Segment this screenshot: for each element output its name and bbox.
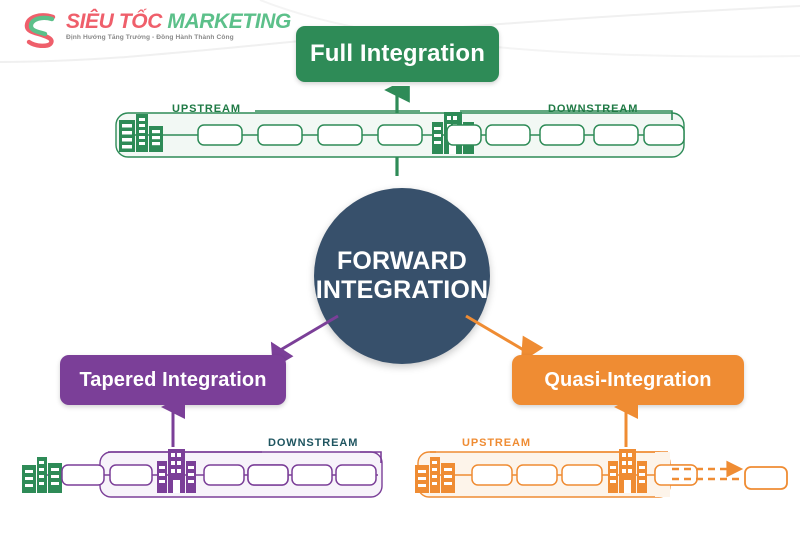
upstream-label-quasi: UPSTREAM: [462, 437, 531, 449]
arrow-to-quasi-integration: [466, 316, 527, 352]
chain-row-tapered-integration: DOWNSTREAM: [0, 405, 400, 505]
chain-diagram-tapered: [0, 405, 400, 505]
arrow-to-tapered-integration: [277, 316, 338, 352]
downstream-label-tapered: DOWNSTREAM: [268, 437, 358, 449]
chain-diagram-quasi: [400, 405, 800, 505]
chain-row-quasi-integration: UPSTREAM: [400, 405, 800, 505]
external-partner-node: [745, 467, 787, 489]
branch-title-tapered-integration[interactable]: Tapered Integration: [60, 355, 286, 405]
branch-title-tapered-integration-label: Tapered Integration: [79, 369, 266, 392]
branch-title-quasi-integration-label: Quasi-Integration: [544, 369, 711, 392]
diagram-canvas: SIÊU TỐC MARKETING Định Hướng Tăng Trưởn…: [0, 0, 800, 533]
branch-title-quasi-integration[interactable]: Quasi-Integration: [512, 355, 744, 405]
factory-building-icon-tapered: [22, 457, 62, 493]
